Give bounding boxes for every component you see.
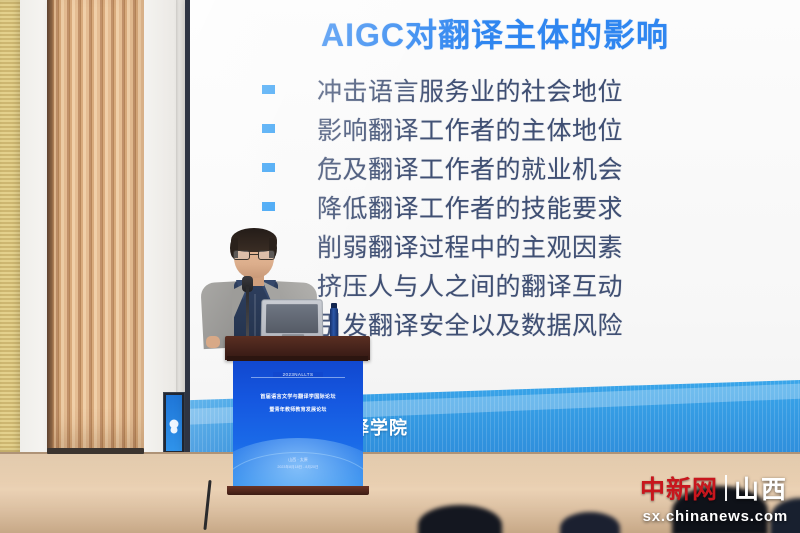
podium: 2023NALLTS 首届语言文学与翻译学国际论坛 暨青年教师教育发展论坛 山西… xyxy=(225,336,370,496)
beige-curtain xyxy=(47,0,144,452)
glasses-bridge xyxy=(250,254,258,255)
glasses-lens-right xyxy=(258,250,275,260)
bullet-text: 危及翻译工作者的就业机会 xyxy=(317,150,623,186)
bullet-text: 影响翻译工作者的主体地位 xyxy=(317,111,623,147)
podium-banner: 2023NALLTS 首届语言文学与翻译学国际论坛 暨青年教师教育发展论坛 山西… xyxy=(233,361,363,488)
bullet-marker-icon xyxy=(262,85,275,94)
banner-location: 山西 · 太原 xyxy=(233,457,363,463)
watermark-divider xyxy=(725,475,727,501)
bullet-text: 冲击语言服务业的社会地位 xyxy=(317,72,623,108)
watermark: 中新网 山西 sx.chinanews.com xyxy=(640,470,788,525)
side-display-screen xyxy=(166,395,182,451)
laptop-lid xyxy=(261,299,324,339)
list-item: 挤压人与人之间的翻译互动 xyxy=(262,265,782,304)
wall-column-line xyxy=(176,0,179,452)
slat-wall-panel xyxy=(0,0,20,452)
list-item: 削弱翻译过程中的主观因素 xyxy=(262,226,782,265)
bullet-text: 降低翻译工作者的技能要求 xyxy=(317,189,623,225)
watermark-region: 山西 xyxy=(734,470,788,506)
curtain-base-rail xyxy=(47,448,144,454)
list-item: 降低翻译工作者的技能要求 xyxy=(262,187,782,226)
slide-bullet-list: 冲击语言服务业的社会地位 影响翻译工作者的主体地位 危及翻译工作者的就业机会 降… xyxy=(262,70,782,343)
person-icon xyxy=(170,420,179,429)
laptop-screen xyxy=(266,304,318,333)
wall-segment-right xyxy=(144,0,190,452)
bullet-marker-icon xyxy=(262,124,275,133)
watermark-brand: 中新网 xyxy=(640,470,718,506)
curtain-shadow-edge xyxy=(47,0,54,452)
bullet-text: 削弱翻译过程中的主观因素 xyxy=(317,228,623,264)
wall-segment-left xyxy=(20,0,48,452)
banner-event-code: 2023NALLTS xyxy=(273,372,323,377)
banner-divider xyxy=(251,377,345,378)
slide-title: AIGC对翻译主体的影响 xyxy=(190,10,800,56)
screenshot-stage: AIGC对翻译主体的影响 冲击语言服务业的社会地位 影响翻译工作者的主体地位 危… xyxy=(0,0,800,533)
bullet-text: 挤压人与人之间的翻译互动 xyxy=(317,267,623,303)
glasses-icon xyxy=(233,250,275,260)
watermark-url: sx.chinanews.com xyxy=(640,508,788,525)
list-item: 影响翻译工作者的主体地位 xyxy=(262,109,782,148)
watermark-logo-row: 中新网 山西 xyxy=(640,470,788,506)
podium-base xyxy=(227,486,369,495)
microphone-stem xyxy=(246,285,249,337)
glasses-lens-left xyxy=(233,250,250,260)
list-item: 冲击语言服务业的社会地位 xyxy=(262,70,782,109)
banner-title-line2: 暨青年教师教育发展论坛 xyxy=(233,406,363,413)
bullet-marker-icon xyxy=(262,163,275,172)
list-item: 危及翻译工作者的就业机会 xyxy=(262,148,782,187)
banner-title-line1: 首届语言文学与翻译学国际论坛 xyxy=(233,393,363,400)
banner-dates: 2023年8月18日 - 8月20日 xyxy=(233,465,363,470)
hand xyxy=(206,336,220,348)
bullet-marker-icon xyxy=(262,202,275,211)
side-display-panel xyxy=(163,392,185,454)
